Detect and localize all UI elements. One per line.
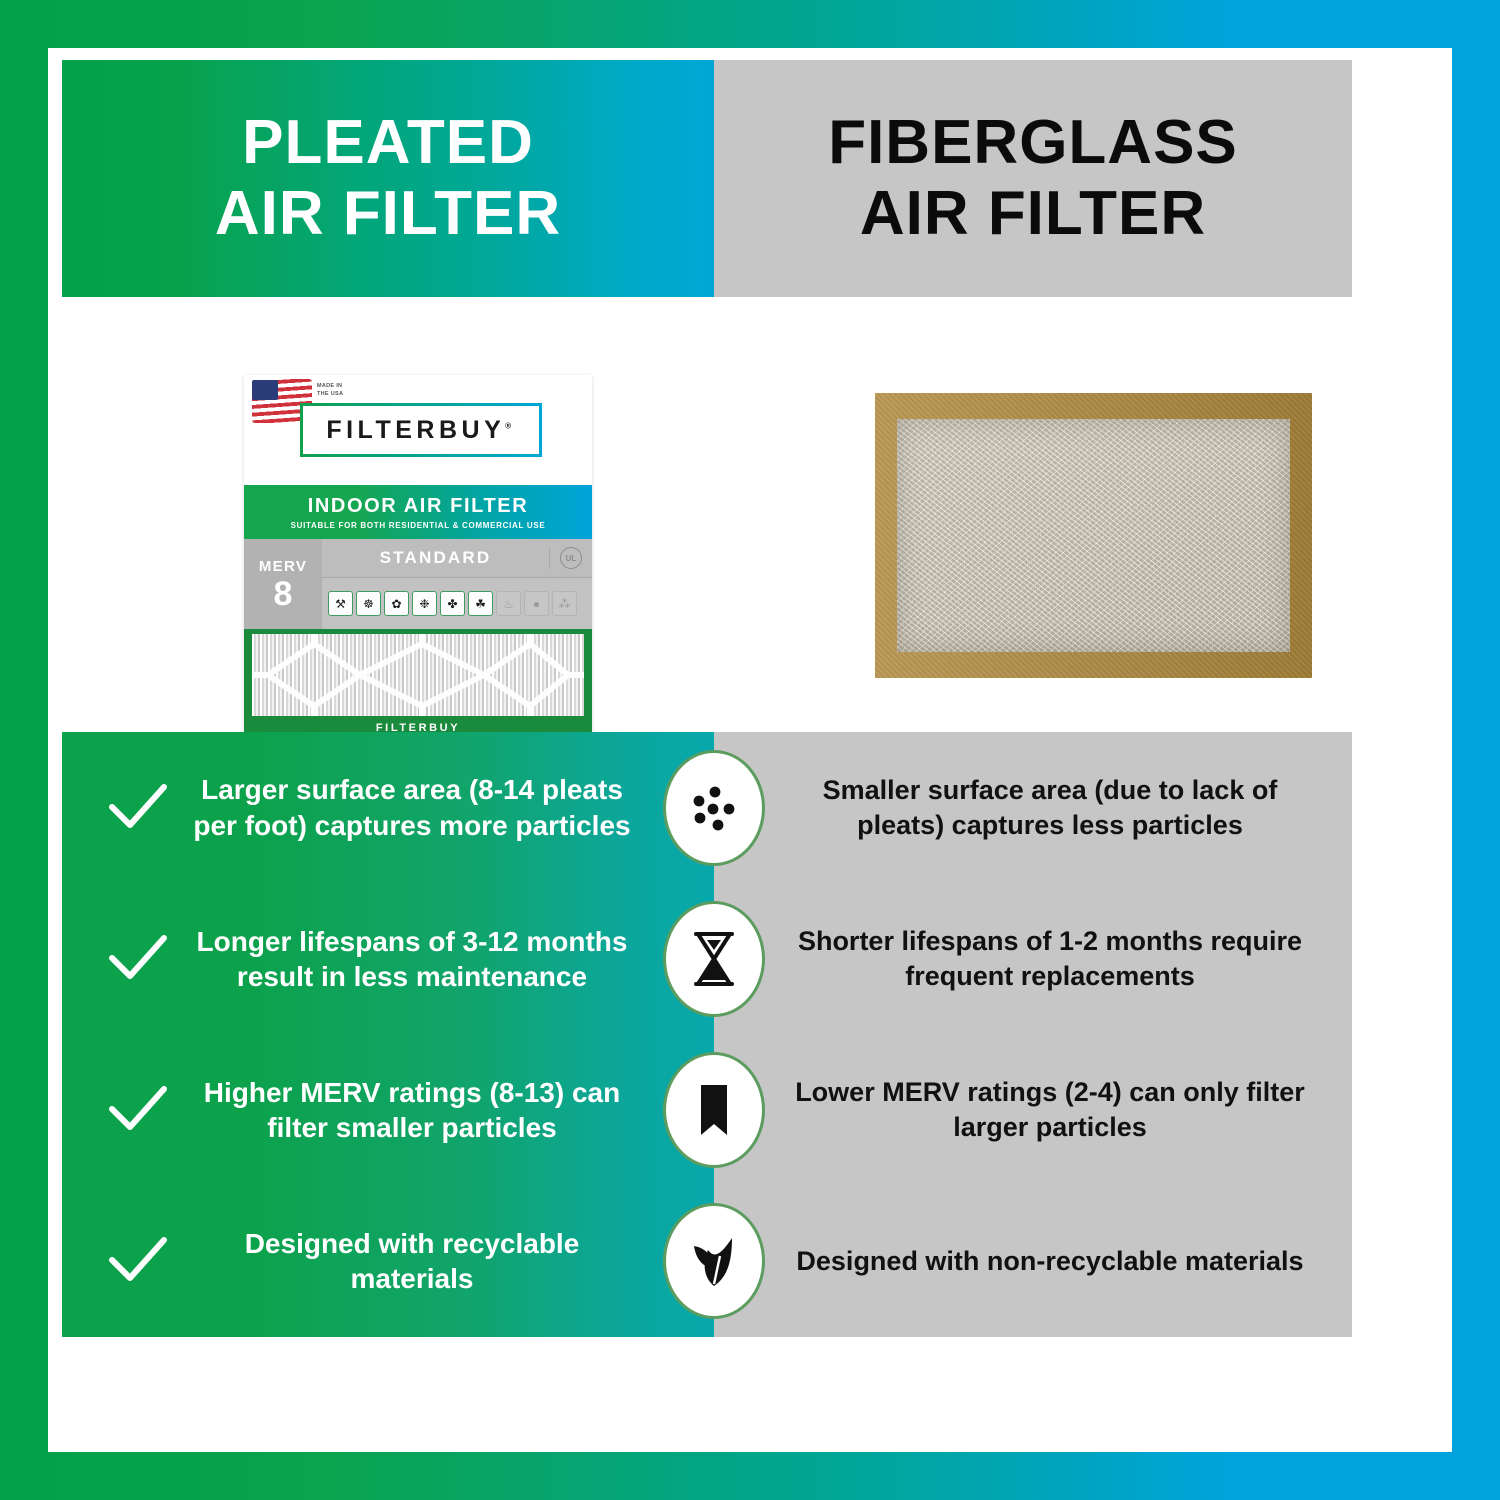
box-filter-media-image: FILTERBUY xyxy=(244,629,592,738)
bookmark-icon-glyph xyxy=(686,1079,742,1141)
comparison-row: Higher MERV ratings (8-13) can filter sm… xyxy=(62,1035,1352,1186)
check-icon xyxy=(96,1083,180,1137)
row-left-cell: Longer lifespans of 3-12 months result i… xyxy=(62,924,714,995)
header-fiberglass-title: FIBERGLASS AIR FILTER xyxy=(828,108,1238,249)
pollen-icon: ✿ xyxy=(384,591,409,616)
box-band-title: INDOOR AIR FILTER xyxy=(308,495,529,518)
dust-mites-icon: ✤ xyxy=(440,591,465,616)
lint-fibers-icon: ☸ xyxy=(356,591,381,616)
box-feature-icon-strip: ⚒ ☸ ✿ ❉ ✤ ☘ ♨ ● ⁂ xyxy=(322,578,592,629)
ul-certification-mark: UL xyxy=(549,547,592,569)
row-left-text: Higher MERV ratings (8-13) can filter sm… xyxy=(180,1075,644,1146)
particles-icon-glyph xyxy=(686,777,742,839)
box-spec-strip: MERV 8 STANDARD UL ⚒ ☸ ✿ ❉ xyxy=(244,539,592,629)
hourglass-icon-glyph xyxy=(686,928,742,990)
filterbuy-logo: FILTERBUY® xyxy=(300,403,542,457)
box-header: MADE IN THE USA FILTERBUY® xyxy=(244,375,592,485)
comparison-row: Designed with recyclable materials Desig… xyxy=(62,1186,1352,1337)
particles-icon xyxy=(663,750,765,866)
filterbuy-logo-text: FILTERBUY® xyxy=(326,416,515,445)
fiberglass-media-texture xyxy=(897,419,1290,652)
check-icon xyxy=(96,1234,180,1288)
comparison-section: Larger surface area (8-14 pleats per foo… xyxy=(62,732,1352,1337)
row-right-text: Lower MERV ratings (2-4) can only filter… xyxy=(778,1075,1322,1145)
row-right-text: Smaller surface area (due to lack of ple… xyxy=(778,773,1322,843)
box-product-band: INDOOR AIR FILTER SUITABLE FOR BOTH RESI… xyxy=(244,485,592,539)
header-pleated-title: PLEATED AIR FILTER xyxy=(215,108,561,249)
pet-dander-icon: ☘ xyxy=(468,591,493,616)
virus-icon: ⁂ xyxy=(552,591,577,616)
fiberglass-filter-image xyxy=(875,393,1312,678)
made-in-usa-label: MADE IN THE USA xyxy=(317,382,343,399)
check-icon xyxy=(96,781,180,835)
check-icon xyxy=(96,932,180,986)
row-right-text: Shorter lifespans of 1-2 months require … xyxy=(778,924,1322,994)
row-left-text: Longer lifespans of 3-12 months result i… xyxy=(180,924,644,995)
box-grade-label: STANDARD xyxy=(322,548,549,568)
row-left-text: Larger surface area (8-14 pleats per foo… xyxy=(180,772,644,843)
smoke-icon: ♨ xyxy=(496,591,521,616)
comparison-rows: Larger surface area (8-14 pleats per foo… xyxy=(62,732,1352,1337)
row-right-text: Designed with non-recyclable materials xyxy=(778,1244,1322,1279)
row-left-cell: Larger surface area (8-14 pleats per foo… xyxy=(62,772,714,843)
row-left-cell: Designed with recyclable materials xyxy=(62,1226,714,1297)
leaf-icon xyxy=(663,1203,765,1319)
leaf-icon-glyph xyxy=(686,1230,742,1292)
box-band-subtitle: SUITABLE FOR BOTH RESIDENTIAL & COMMERCI… xyxy=(291,521,546,530)
ul-icon: UL xyxy=(560,547,582,569)
header-bars: PLEATED AIR FILTER FIBERGLASS AIR FILTER xyxy=(62,60,1352,297)
box-grade-row: STANDARD UL xyxy=(322,539,592,578)
bacteria-icon: ● xyxy=(524,591,549,616)
pleated-filter-box-image: MADE IN THE USA FILTERBUY® INDOOR AIR FI… xyxy=(244,375,592,738)
dust-debris-icon: ⚒ xyxy=(328,591,353,616)
header-fiberglass: FIBERGLASS AIR FILTER xyxy=(714,60,1352,297)
merv-badge: MERV 8 xyxy=(244,539,322,629)
merv-value: 8 xyxy=(274,577,293,611)
row-right-cell: Designed with non-recyclable materials xyxy=(714,1244,1352,1279)
header-pleated: PLEATED AIR FILTER xyxy=(62,60,714,297)
row-left-text: Designed with recyclable materials xyxy=(180,1226,644,1297)
hourglass-icon xyxy=(663,901,765,1017)
comparison-row: Longer lifespans of 3-12 months result i… xyxy=(62,883,1352,1034)
outer-gradient-frame: PLEATED AIR FILTER FIBERGLASS AIR FILTER… xyxy=(0,0,1500,1500)
filter-wire-mesh-icon xyxy=(252,634,584,716)
row-right-cell: Shorter lifespans of 1-2 months require … xyxy=(714,924,1352,994)
row-right-cell: Smaller surface area (due to lack of ple… xyxy=(714,773,1352,843)
mold-icon: ❉ xyxy=(412,591,437,616)
product-image-area: MADE IN THE USA FILTERBUY® INDOOR AIR FI… xyxy=(62,297,1352,732)
box-spec-right: STANDARD UL ⚒ ☸ ✿ ❉ ✤ ☘ ♨ ● ⁂ xyxy=(322,539,592,629)
row-left-cell: Higher MERV ratings (8-13) can filter sm… xyxy=(62,1075,714,1146)
comparison-row: Larger surface area (8-14 pleats per foo… xyxy=(62,732,1352,883)
merv-label: MERV xyxy=(259,558,307,575)
bookmark-icon xyxy=(663,1052,765,1168)
row-right-cell: Lower MERV ratings (2-4) can only filter… xyxy=(714,1075,1352,1145)
